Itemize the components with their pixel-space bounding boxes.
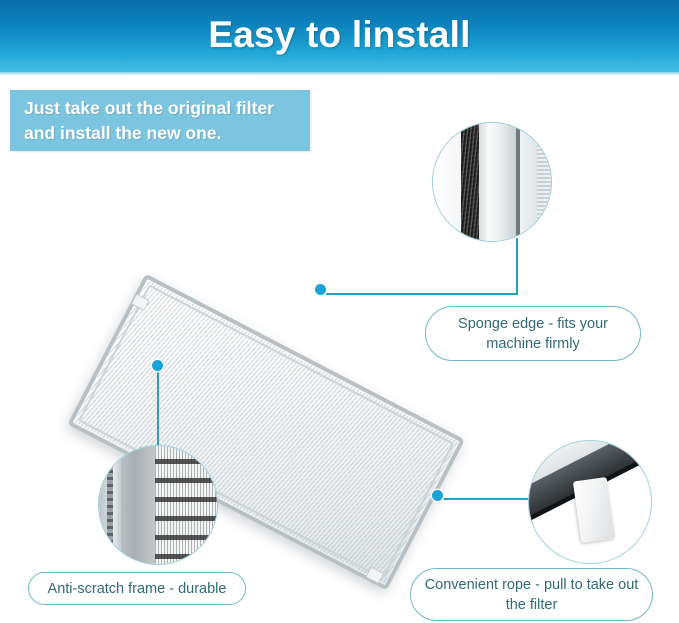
caption-sponge-edge: Sponge edge - fits your machine firmly (425, 306, 641, 361)
frame-pleated-media (155, 445, 218, 565)
inset-photo-pull-rope (528, 440, 652, 564)
instruction-text: Just take out the original filter and in… (24, 96, 306, 146)
header-underline-divider (0, 72, 679, 76)
page-title: Easy to linstall (0, 14, 679, 56)
connector-line-frame-vertical (157, 369, 159, 453)
sponge-band-edge (520, 122, 538, 242)
instruction-callout-box: Just take out the original filter and in… (10, 90, 310, 151)
frame-band-outer (98, 445, 107, 565)
header-banner: Easy to linstall (0, 0, 679, 72)
sponge-band-pleats (537, 122, 552, 242)
connector-dot-frame (152, 360, 163, 371)
connector-dot-rope (432, 490, 443, 501)
caption-anti-scratch-frame: Anti-scratch frame - durable (28, 572, 246, 605)
frame-band-highlight (113, 445, 121, 565)
connector-line-sponge-vertical (516, 238, 518, 295)
connector-dot-sponge (315, 284, 326, 295)
product-infographic-page: Easy to linstall Just take out the origi… (0, 0, 679, 623)
sponge-band-light (433, 122, 463, 242)
connector-line-rope-horizontal (443, 498, 535, 500)
inset-photo-sponge-edge (432, 122, 552, 242)
sponge-band-foam (461, 122, 480, 242)
inset-photo-anti-scratch-frame (98, 445, 218, 565)
filter-corner-tab (131, 293, 150, 311)
filter-corner-tab (365, 567, 384, 585)
frame-band-metal (121, 445, 155, 565)
caption-convenient-rope: Convenient rope - pull to take out the f… (410, 568, 653, 621)
connector-line-sponge-horizontal (326, 293, 518, 295)
sponge-band-panel (487, 122, 517, 242)
